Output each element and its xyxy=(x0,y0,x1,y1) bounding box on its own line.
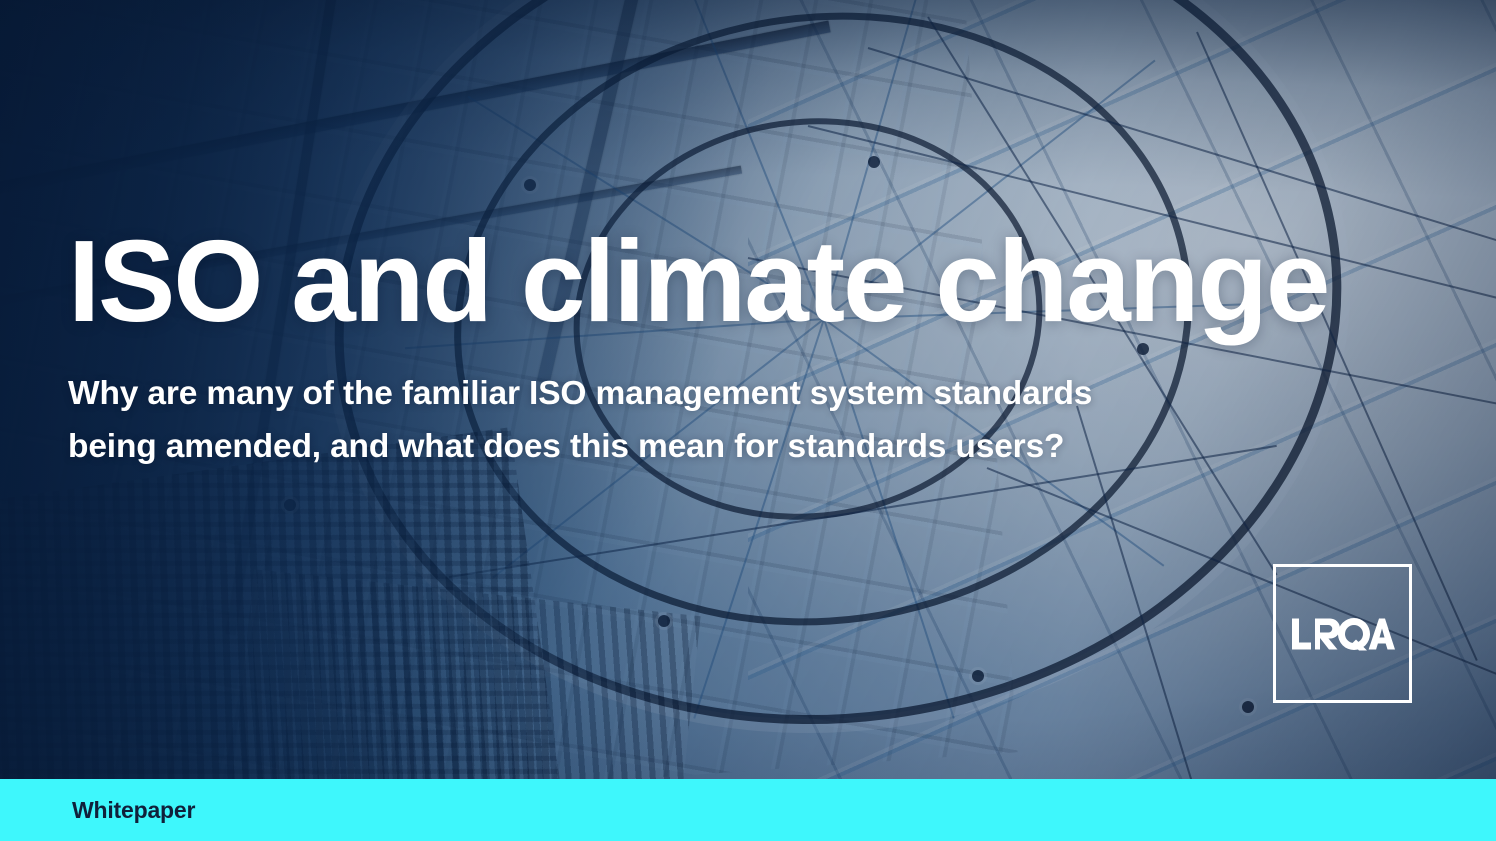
page-subtitle: Why are many of the familiar ISO managem… xyxy=(68,368,1298,474)
cover-text-block: ISO and climate change Why are many of t… xyxy=(68,222,1388,474)
whitepaper-cover: ISO and climate change Why are many of t… xyxy=(0,0,1496,841)
document-type-bar: Whitepaper xyxy=(0,779,1496,841)
page-subtitle-line-1: Why are many of the familiar ISO managem… xyxy=(68,368,1298,421)
lrqa-logo xyxy=(1273,564,1412,703)
document-type-label: Whitepaper xyxy=(72,797,195,824)
page-title: ISO and climate change xyxy=(68,222,1388,340)
page-subtitle-line-2: being amended, and what does this mean f… xyxy=(68,421,1298,474)
lrqa-wordmark-icon xyxy=(1291,617,1395,651)
